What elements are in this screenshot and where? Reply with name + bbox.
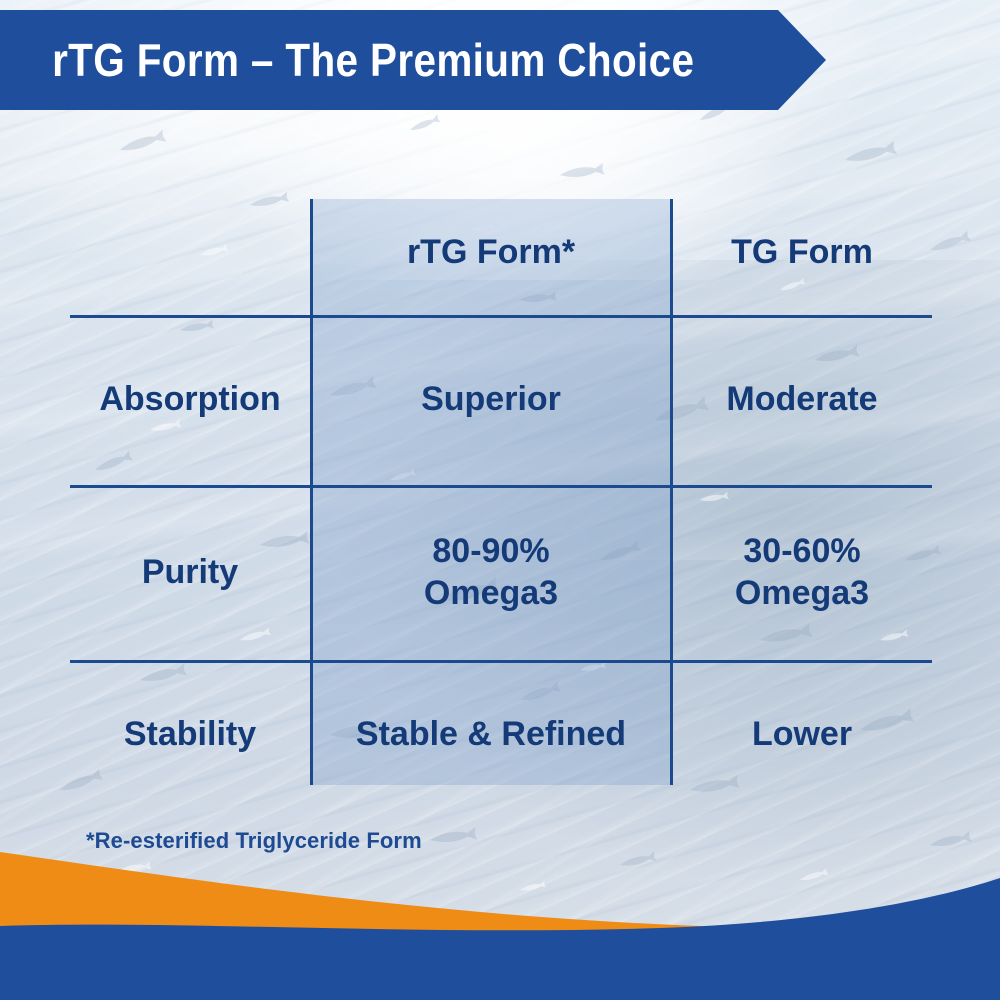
column-header-rtg: rTG Form* [310, 190, 672, 315]
cell-stability-rtg: Stable & Refined [310, 660, 672, 810]
infographic-canvas: rTG Form – The Premium Choice rTG Form* … [0, 0, 1000, 1000]
cell-purity-tg-line2: Omega3 [735, 573, 869, 614]
cell-absorption-tg: Moderate [672, 315, 932, 485]
cell-purity-rtg-line1: 80-90% [424, 531, 558, 572]
row-label-absorption: Absorption [70, 315, 310, 485]
cell-purity-tg-line1: 30-60% [735, 531, 869, 572]
cell-purity-tg: 30-60% Omega3 [672, 485, 932, 660]
header-banner: rTG Form – The Premium Choice [0, 10, 826, 110]
comparison-table: rTG Form* TG Form Absorption Superior Mo… [70, 190, 932, 810]
table-grid: rTG Form* TG Form Absorption Superior Mo… [70, 190, 932, 810]
cell-purity-rtg-line2: Omega3 [424, 573, 558, 614]
page-title: rTG Form – The Premium Choice [0, 33, 694, 87]
bottom-decoration [0, 840, 1000, 1000]
column-header-tg: TG Form [672, 190, 932, 315]
row-label-purity: Purity [70, 485, 310, 660]
cell-absorption-rtg: Superior [310, 315, 672, 485]
cell-stability-tg: Lower [672, 660, 932, 810]
cell-purity-rtg: 80-90% Omega3 [310, 485, 672, 660]
row-label-stability: Stability [70, 660, 310, 810]
table-corner-cell [70, 190, 310, 315]
